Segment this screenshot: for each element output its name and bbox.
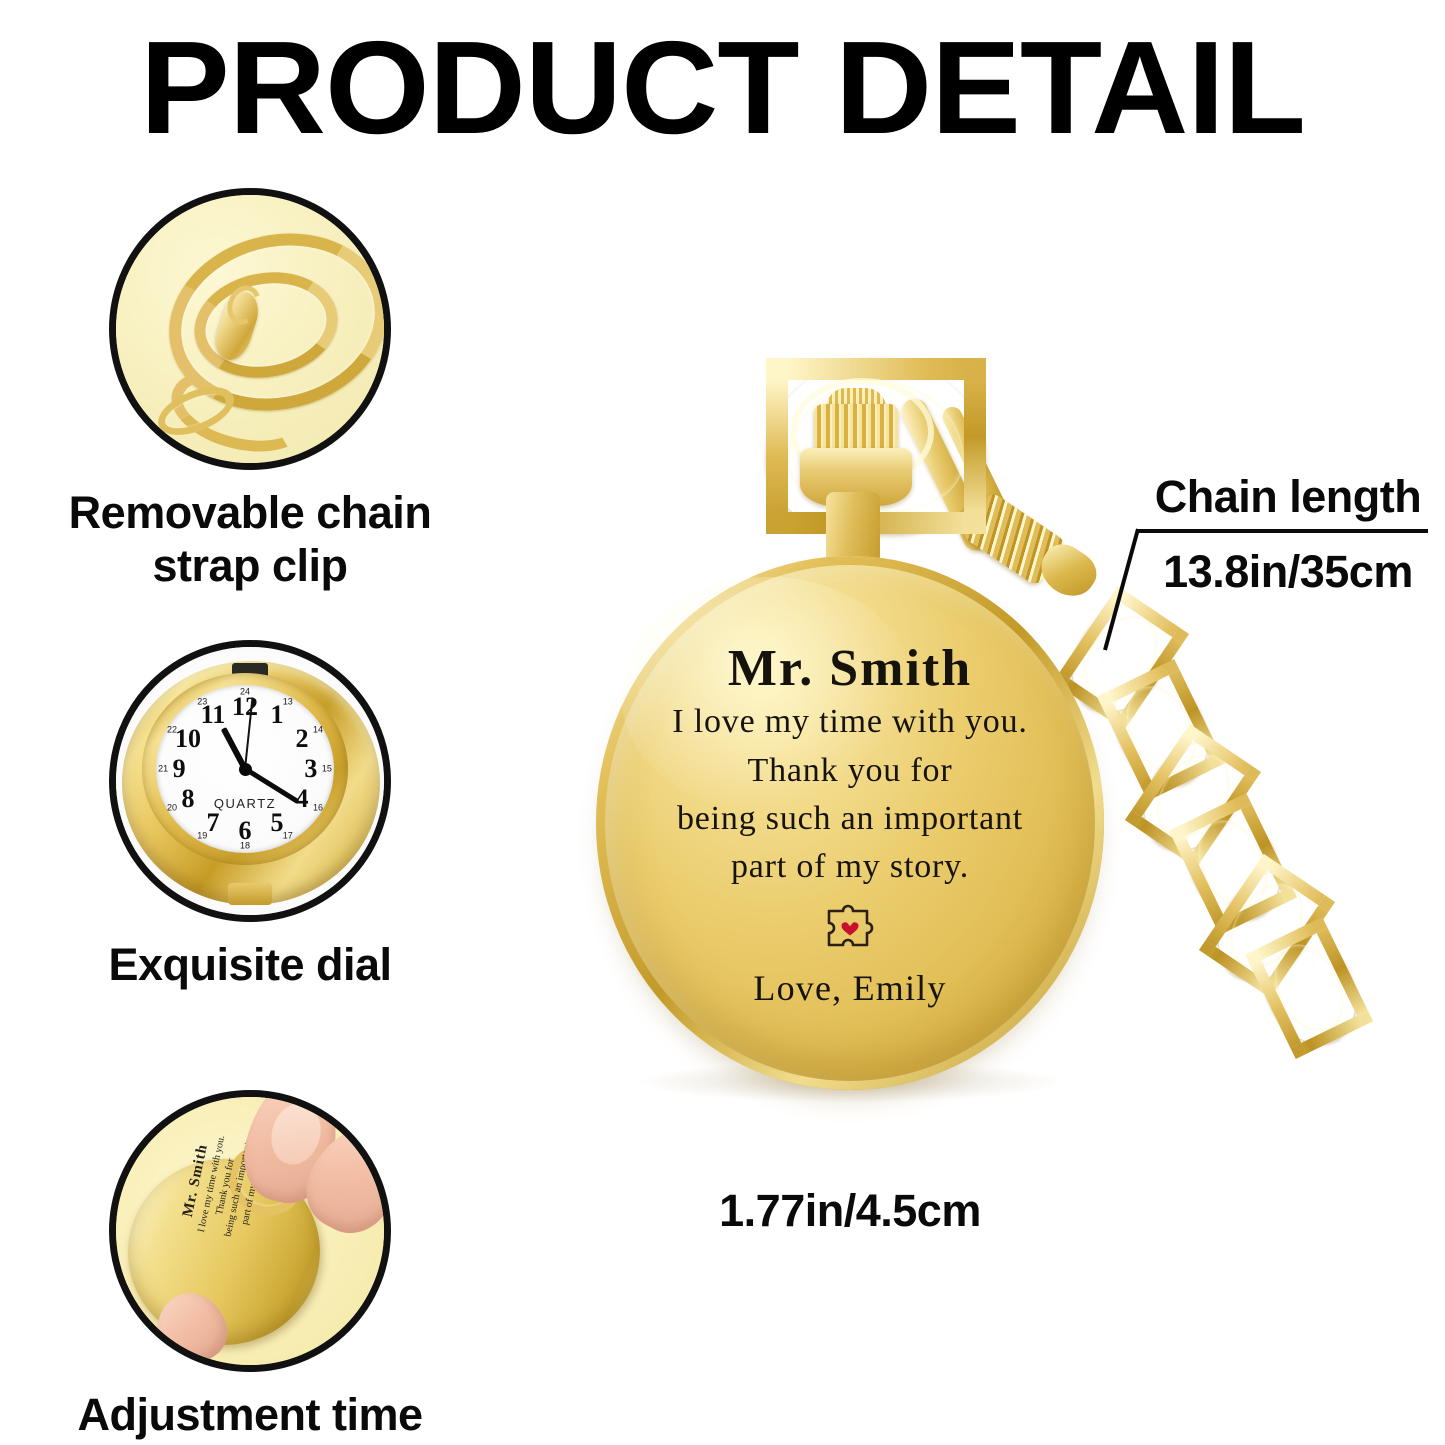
- dial-outer-numeral-17: 17: [283, 832, 293, 841]
- chain-length-annotation: Chain length: [1138, 470, 1438, 523]
- feature-exquisite-dial: 12 1 2 3 4 5 6 7 8 9 10 11 24 13 14 15 1…: [0, 640, 500, 991]
- feature-label-chain-line1: Removable chain: [0, 486, 500, 539]
- page-title: PRODUCT DETAIL: [0, 22, 1445, 154]
- watch-crown: [814, 404, 898, 452]
- feature-label-dial-line1: Exquisite dial: [0, 938, 500, 991]
- dial-outer-numeral-21: 21: [158, 765, 168, 774]
- dial-numeral-2: 2: [295, 726, 308, 752]
- dial-outer-numeral-24: 24: [240, 687, 250, 696]
- watch-crown-stem: [826, 492, 880, 564]
- dial-outer-numeral-23: 23: [197, 697, 207, 706]
- chain-length-label: Chain length: [1138, 470, 1438, 523]
- dial-numeral-3: 3: [304, 756, 317, 782]
- dial-numeral-8: 8: [182, 786, 195, 812]
- dial-outer-numeral-14: 14: [313, 726, 323, 735]
- dial-outer-numeral-15: 15: [322, 765, 332, 774]
- chain-length-value-wrap: 13.8in/35cm: [1138, 545, 1438, 598]
- dial-outer-numeral-22: 22: [167, 726, 177, 735]
- dial-numeral-9: 9: [173, 756, 186, 782]
- feature-label-chain: Removable chain strap clip: [0, 486, 500, 592]
- dial-numeral-1: 1: [271, 702, 284, 728]
- feature-label-chain-line2: strap clip: [0, 539, 500, 592]
- feature-label-adjustment-line1: Adjustment time: [0, 1388, 500, 1441]
- dial-face: 12 1 2 3 4 5 6 7 8 9 10 11 24 13 14 15 1…: [156, 685, 334, 853]
- feature-label-adjustment: Adjustment time: [0, 1388, 500, 1441]
- hand-center-cap: [239, 763, 252, 776]
- engraving-block: Mr. Smith I love my time with you. Thank…: [620, 640, 1080, 1009]
- dial-numeral-7: 7: [206, 810, 219, 836]
- dial-outer-numeral-13: 13: [283, 697, 293, 706]
- feature-removable-chain-strap-clip: Removable chain strap clip: [0, 188, 500, 592]
- feature-thumbnail-adjustment: Mr. Smith I love my time with you. Thank…: [109, 1090, 391, 1372]
- case-foot-bottom: [228, 883, 272, 905]
- dial-outer-numeral-16: 16: [313, 803, 323, 812]
- dial-numeral-12: 12: [232, 694, 258, 720]
- engraving-line-4: part of my story.: [620, 843, 1080, 891]
- dial-numeral-5: 5: [271, 810, 284, 836]
- feature-thumbnail-chain: [109, 188, 391, 470]
- chain-annotation-rule: [1138, 529, 1428, 533]
- feature-label-dial: Exquisite dial: [0, 938, 500, 991]
- engraving-name: Mr. Smith: [620, 640, 1080, 698]
- watch-diameter-label: 1.77in/4.5cm: [600, 1185, 1100, 1237]
- puzzle-piece-heart-icon: [819, 903, 881, 959]
- engraving-line-3: being such an important: [620, 795, 1080, 843]
- dial-outer-numeral-20: 20: [167, 803, 177, 812]
- product-detail-page: PRODUCT DETAIL Removable chain strap cli…: [0, 0, 1445, 1445]
- chain-length-value: 13.8in/35cm: [1138, 545, 1438, 598]
- feature-thumbnail-dial: 12 1 2 3 4 5 6 7 8 9 10 11 24 13 14 15 1…: [109, 640, 391, 922]
- engraving-line-1: I love my time with you.: [620, 698, 1080, 746]
- dial-numeral-10: 10: [175, 726, 201, 752]
- engraving-line-2: Thank you for: [620, 747, 1080, 795]
- dial-outer-numeral-18: 18: [240, 842, 250, 851]
- engraving-signature: Love, Emily: [620, 967, 1080, 1009]
- dial-outer-numeral-19: 19: [197, 832, 207, 841]
- feature-adjustment-time: Mr. Smith I love my time with you. Thank…: [0, 1090, 500, 1441]
- dial-brand-text: QUARTZ: [214, 796, 276, 811]
